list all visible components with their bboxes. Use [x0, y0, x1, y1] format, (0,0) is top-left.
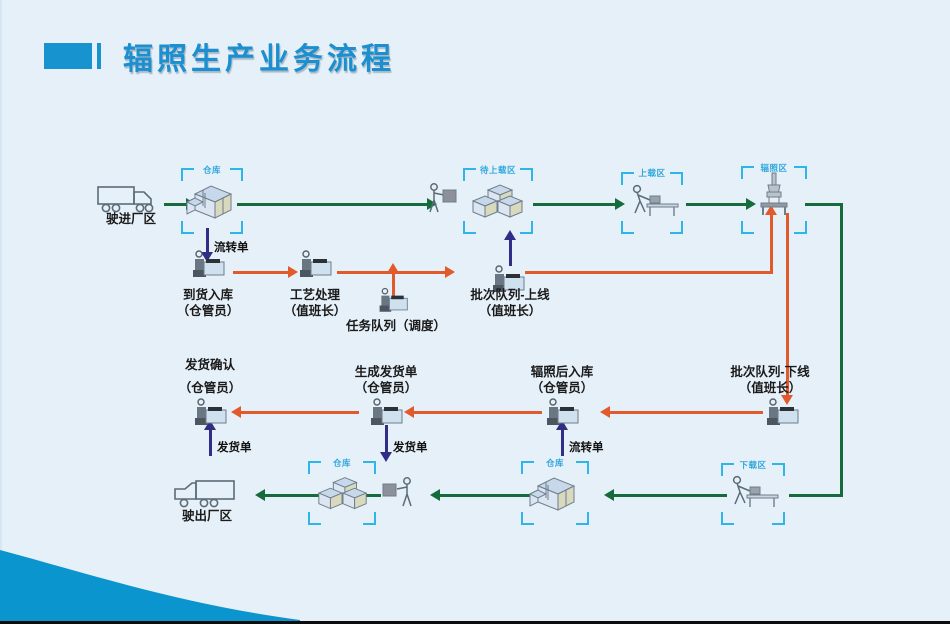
node-label-task-queue: 任务队列（调度）	[334, 319, 458, 334]
node-carrier-bottom	[382, 476, 418, 515]
flow-line-unload-to-warehouse	[612, 494, 727, 497]
node-role-arrival-storage: （仓管员）	[160, 304, 256, 319]
arrowhead-green	[430, 489, 440, 501]
truck-icon	[97, 182, 163, 216]
node-role-process-handle: （值班长）	[267, 304, 363, 319]
warehouse-boxes-icon	[185, 180, 239, 224]
warehouse-boxes-icon	[528, 472, 582, 516]
warehouse-boxes-icon	[314, 474, 372, 516]
zone-label-warehouse-in: 仓库	[182, 164, 242, 176]
node-label-arrival-storage: 到货入库	[160, 288, 256, 303]
clerk-desk-icon	[296, 250, 334, 280]
node-label-truck-out: 驶出厂区	[168, 509, 246, 524]
node-role-post-irr-storage: （仓管员）	[500, 381, 624, 396]
flow-line-loadzone-to-irradiation	[686, 203, 748, 206]
node-ship-confirm	[191, 398, 229, 433]
node-role-ship-confirm: （仓管员）	[155, 381, 265, 396]
arrowhead-green	[604, 489, 614, 501]
node-label-batch-online: 批次队列-上线	[451, 288, 569, 303]
zone-label-preload: 待上载区	[463, 164, 533, 176]
flow-line-batchonline-up	[509, 238, 512, 266]
irradiator-tower-icon	[753, 172, 795, 216]
node-role-create-invoice: （仓管员）	[330, 381, 442, 396]
truck-icon	[174, 477, 240, 511]
node-batch-offline	[763, 398, 801, 433]
node-label-batch-offline: 批次队列-下线	[700, 365, 840, 380]
clerk-desk-icon	[191, 398, 229, 428]
flow-label-invoice-note-mid: 发货单	[393, 439, 428, 455]
arrowhead-orange	[600, 406, 610, 418]
zone-label-warehouse-post: 仓库	[521, 457, 589, 469]
node-arrival-storage	[189, 250, 227, 285]
flow-line-invoice-to-shipconfirm	[239, 411, 359, 414]
blue-wave-shape-icon	[0, 532, 330, 624]
flow-line-right-into-unload	[789, 494, 843, 497]
flow-line-arrival-to-process	[233, 271, 290, 274]
title-square-icon	[44, 43, 92, 69]
node-label-process-handle: 工艺处理	[267, 288, 363, 303]
node-warehouse-out	[314, 474, 372, 521]
flow-line-warehouse-to-carrier-bottom	[438, 494, 530, 497]
flow-label-invoice-note-left: 发货单	[217, 439, 252, 455]
node-role-batch-offline: （值班长）	[700, 381, 840, 396]
slide-canvas: 辐照生产业务流程	[0, 0, 950, 624]
arrowhead-orange	[231, 406, 241, 418]
worker-conveyor-icon	[726, 474, 780, 512]
node-loadzone	[626, 183, 680, 226]
worker-carrying-box-icon	[425, 182, 461, 216]
page-title-text: 辐照生产业务流程	[123, 34, 395, 78]
node-label-post-irr-storage: 辐照后入库	[500, 365, 624, 380]
node-label-truck-in: 驶进厂区	[92, 212, 170, 227]
node-label-create-invoice: 生成发货单	[330, 365, 442, 380]
clerk-desk-icon	[376, 287, 410, 315]
arrowhead-orange	[445, 266, 455, 278]
node-label-ship-confirm: 发货确认	[155, 358, 265, 373]
flow-line-batchoffline-to-poststorage	[608, 411, 763, 414]
page-title: 辐照生产业务流程	[44, 34, 395, 78]
zone-label-loadzone: 上载区	[621, 167, 683, 179]
arrowhead-navy	[380, 452, 392, 462]
flow-line-right-down	[840, 203, 843, 497]
node-preload-pallet	[468, 182, 528, 229]
node-warehouse-post	[528, 472, 582, 521]
corner-decoration	[0, 532, 330, 624]
node-unloadzone	[726, 474, 780, 517]
flow-label-transfer-note-top: 流转单	[214, 239, 249, 255]
clerk-desk-icon	[543, 398, 581, 428]
node-warehouse-in	[185, 180, 239, 229]
worker-conveyor-icon	[626, 183, 680, 221]
node-carrier-top	[425, 182, 461, 221]
flow-line-warehouse-to-carrier	[237, 203, 429, 206]
flow-line-irradiation-right	[805, 203, 843, 206]
flow-line-preload-to-loadzone	[533, 203, 617, 206]
flow-label-transfer-note-bottom: 流转单	[569, 439, 604, 455]
node-post-irr-storage	[543, 398, 581, 433]
left-edge-strip	[0, 0, 2, 624]
flow-line-poststorage-to-invoice	[412, 411, 542, 414]
clerk-desk-icon	[367, 398, 405, 428]
arrowhead-orange	[404, 406, 414, 418]
flow-line-batchonline-right	[525, 271, 773, 274]
arrowhead-green	[255, 489, 265, 501]
pallet-boxes-icon	[468, 182, 528, 224]
node-create-invoice	[367, 398, 405, 433]
arrowhead-orange	[387, 263, 399, 273]
node-process-handle	[296, 250, 334, 285]
clerk-desk-icon	[763, 398, 801, 428]
zone-label-warehouse-out: 仓库	[308, 457, 376, 469]
node-role-batch-online: （值班长）	[451, 304, 569, 319]
title-bar-icon	[97, 43, 101, 69]
node-task-queue	[376, 287, 410, 320]
zone-label-unload: 下载区	[721, 459, 785, 471]
worker-carrying-box-icon	[382, 476, 418, 510]
node-irradiator	[753, 172, 795, 221]
